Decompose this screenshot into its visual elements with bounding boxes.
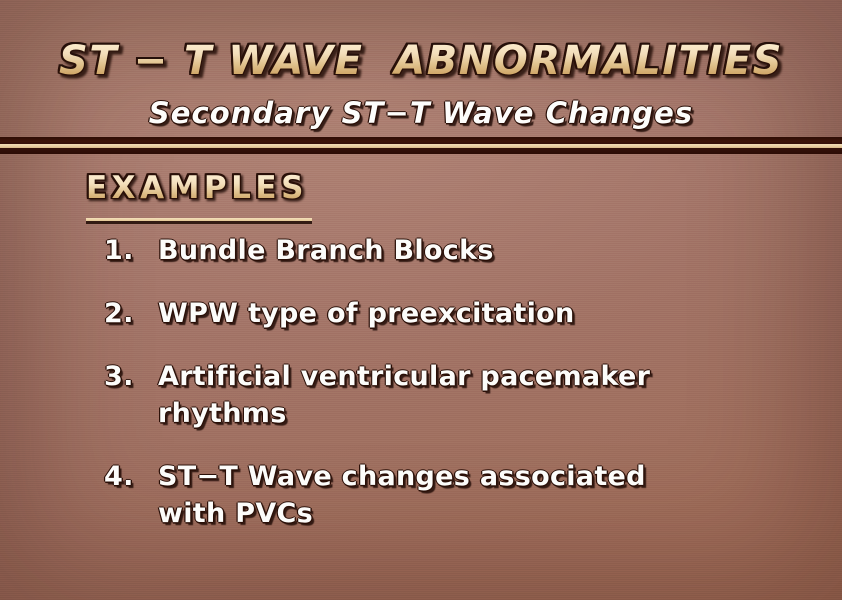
- divider-band-bottom: [0, 148, 842, 154]
- list-item-label: ST−T Wave changes associated with PVCs: [158, 458, 782, 532]
- list-item-number: 2.: [104, 295, 148, 332]
- divider-band-top: [0, 137, 842, 144]
- section-heading: EXAMPLES: [86, 170, 308, 206]
- list-item-label: WPW type of preexcitation: [158, 295, 782, 332]
- slide-canvas: ST − T WAVE ABNORMALITIES Secondary ST−T…: [0, 0, 842, 600]
- page-title: ST − T WAVE ABNORMALITIES: [0, 38, 842, 84]
- list-item-number: 1.: [104, 232, 148, 269]
- list-item: 4. ST−T Wave changes associated with PVC…: [0, 458, 842, 532]
- section-heading-underline: [86, 218, 312, 221]
- examples-list: 1. Bundle Branch Blocks 2. WPW type of p…: [0, 232, 842, 558]
- list-item: 2. WPW type of preexcitation: [0, 295, 842, 332]
- header-divider: [0, 137, 842, 154]
- page-subtitle: Secondary ST−T Wave Changes: [0, 96, 842, 130]
- list-item-label: Bundle Branch Blocks: [158, 232, 782, 269]
- list-item: 1. Bundle Branch Blocks: [0, 232, 842, 269]
- list-item-number: 4.: [104, 458, 148, 495]
- section-heading-group: EXAMPLES: [86, 170, 308, 206]
- list-item: 3. Artificial ventricular pacemaker rhyt…: [0, 358, 842, 432]
- list-item-label: Artificial ventricular pacemaker rhythms: [158, 358, 782, 432]
- list-item-number: 3.: [104, 358, 148, 395]
